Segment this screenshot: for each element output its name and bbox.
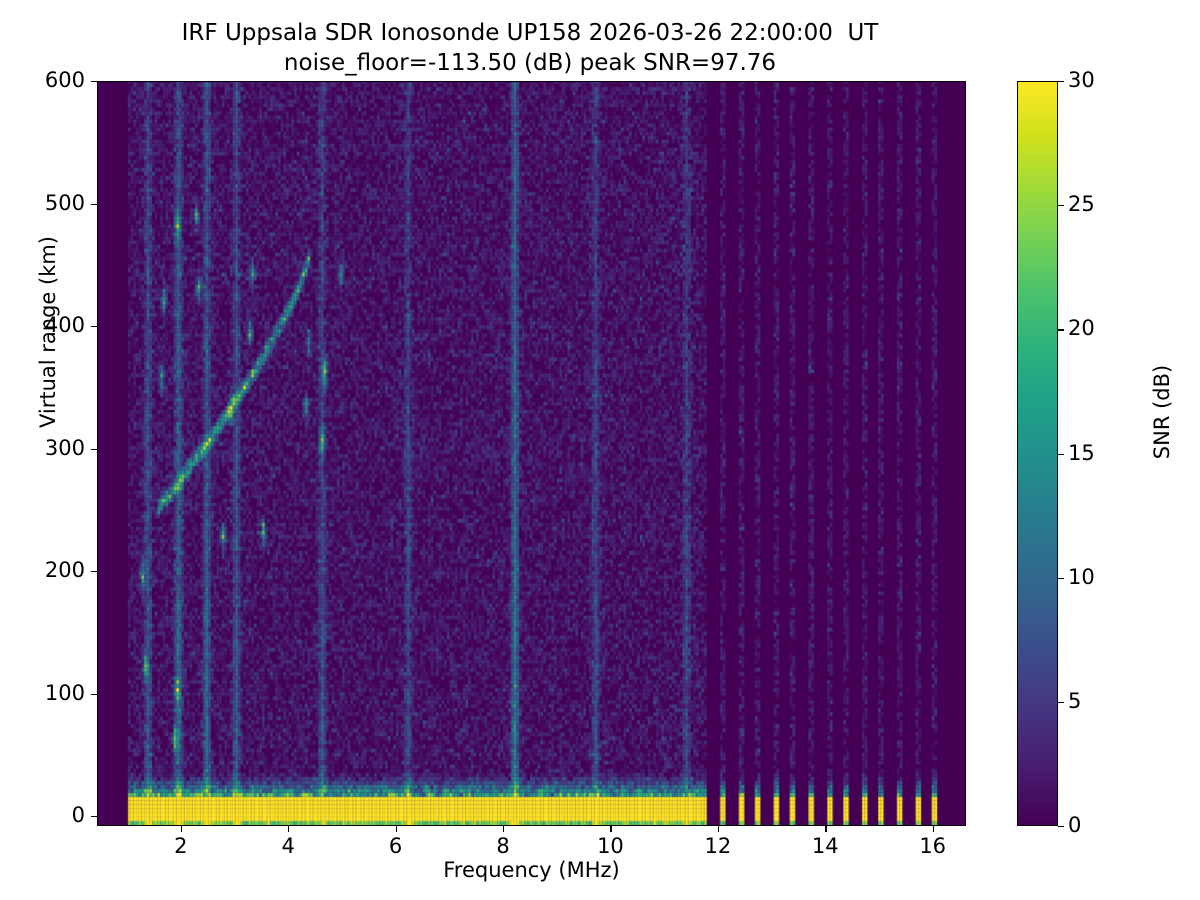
x-tick-label: 4 <box>258 834 318 858</box>
x-tick <box>933 826 934 832</box>
y-tick <box>91 571 97 572</box>
x-tick-label: 12 <box>688 834 748 858</box>
ionogram-heatmap <box>98 82 965 825</box>
colorbar-tick <box>1058 826 1064 827</box>
y-tick <box>91 81 97 82</box>
colorbar-tick <box>1058 205 1064 206</box>
x-tick <box>503 826 504 832</box>
x-tick <box>288 826 289 832</box>
x-tick-label: 10 <box>580 834 640 858</box>
y-tick-label: 100 <box>15 681 85 705</box>
colorbar-tick <box>1058 454 1064 455</box>
x-tick <box>825 826 826 832</box>
colorbar-tick <box>1058 702 1064 703</box>
y-tick-label: 600 <box>15 68 85 92</box>
colorbar-tick-label: 5 <box>1068 689 1128 713</box>
figure-title: IRF Uppsala SDR Ionosonde UP158 2026-03-… <box>0 18 1060 78</box>
colorbar-tick <box>1058 81 1064 82</box>
x-axis-label: Frequency (MHz) <box>97 858 966 882</box>
x-tick-label: 2 <box>151 834 211 858</box>
y-tick <box>91 204 97 205</box>
y-tick <box>91 449 97 450</box>
x-tick <box>396 826 397 832</box>
y-tick-label: 200 <box>15 558 85 582</box>
y-tick-label: 0 <box>15 803 85 827</box>
y-tick <box>91 694 97 695</box>
y-tick <box>91 816 97 817</box>
x-tick <box>610 826 611 832</box>
y-tick <box>91 326 97 327</box>
colorbar-label: SNR (dB) <box>1150 292 1174 532</box>
title-line-1: IRF Uppsala SDR Ionosonde UP158 2026-03-… <box>0 18 1060 48</box>
colorbar-tick-label: 10 <box>1068 565 1128 589</box>
colorbar-tick <box>1058 329 1064 330</box>
colorbar-tick <box>1058 578 1064 579</box>
colorbar-gradient <box>1018 82 1057 825</box>
colorbar-tick-label: 15 <box>1068 441 1128 465</box>
x-tick-label: 16 <box>903 834 963 858</box>
colorbar-tick-label: 25 <box>1068 192 1128 216</box>
x-tick-label: 14 <box>795 834 855 858</box>
x-tick-label: 6 <box>366 834 426 858</box>
colorbar-tick-label: 20 <box>1068 316 1128 340</box>
title-line-2: noise_floor=-113.50 (dB) peak SNR=97.76 <box>0 48 1060 78</box>
ionogram-figure: IRF Uppsala SDR Ionosonde UP158 2026-03-… <box>0 0 1200 900</box>
colorbar <box>1017 81 1058 826</box>
ionogram-plot-area <box>97 81 966 826</box>
colorbar-tick-label: 30 <box>1068 68 1128 92</box>
y-axis-label: Virtual range (km) <box>36 202 60 462</box>
colorbar-tick-label: 0 <box>1068 813 1128 837</box>
x-tick <box>181 826 182 832</box>
x-tick-label: 8 <box>473 834 533 858</box>
x-tick <box>718 826 719 832</box>
